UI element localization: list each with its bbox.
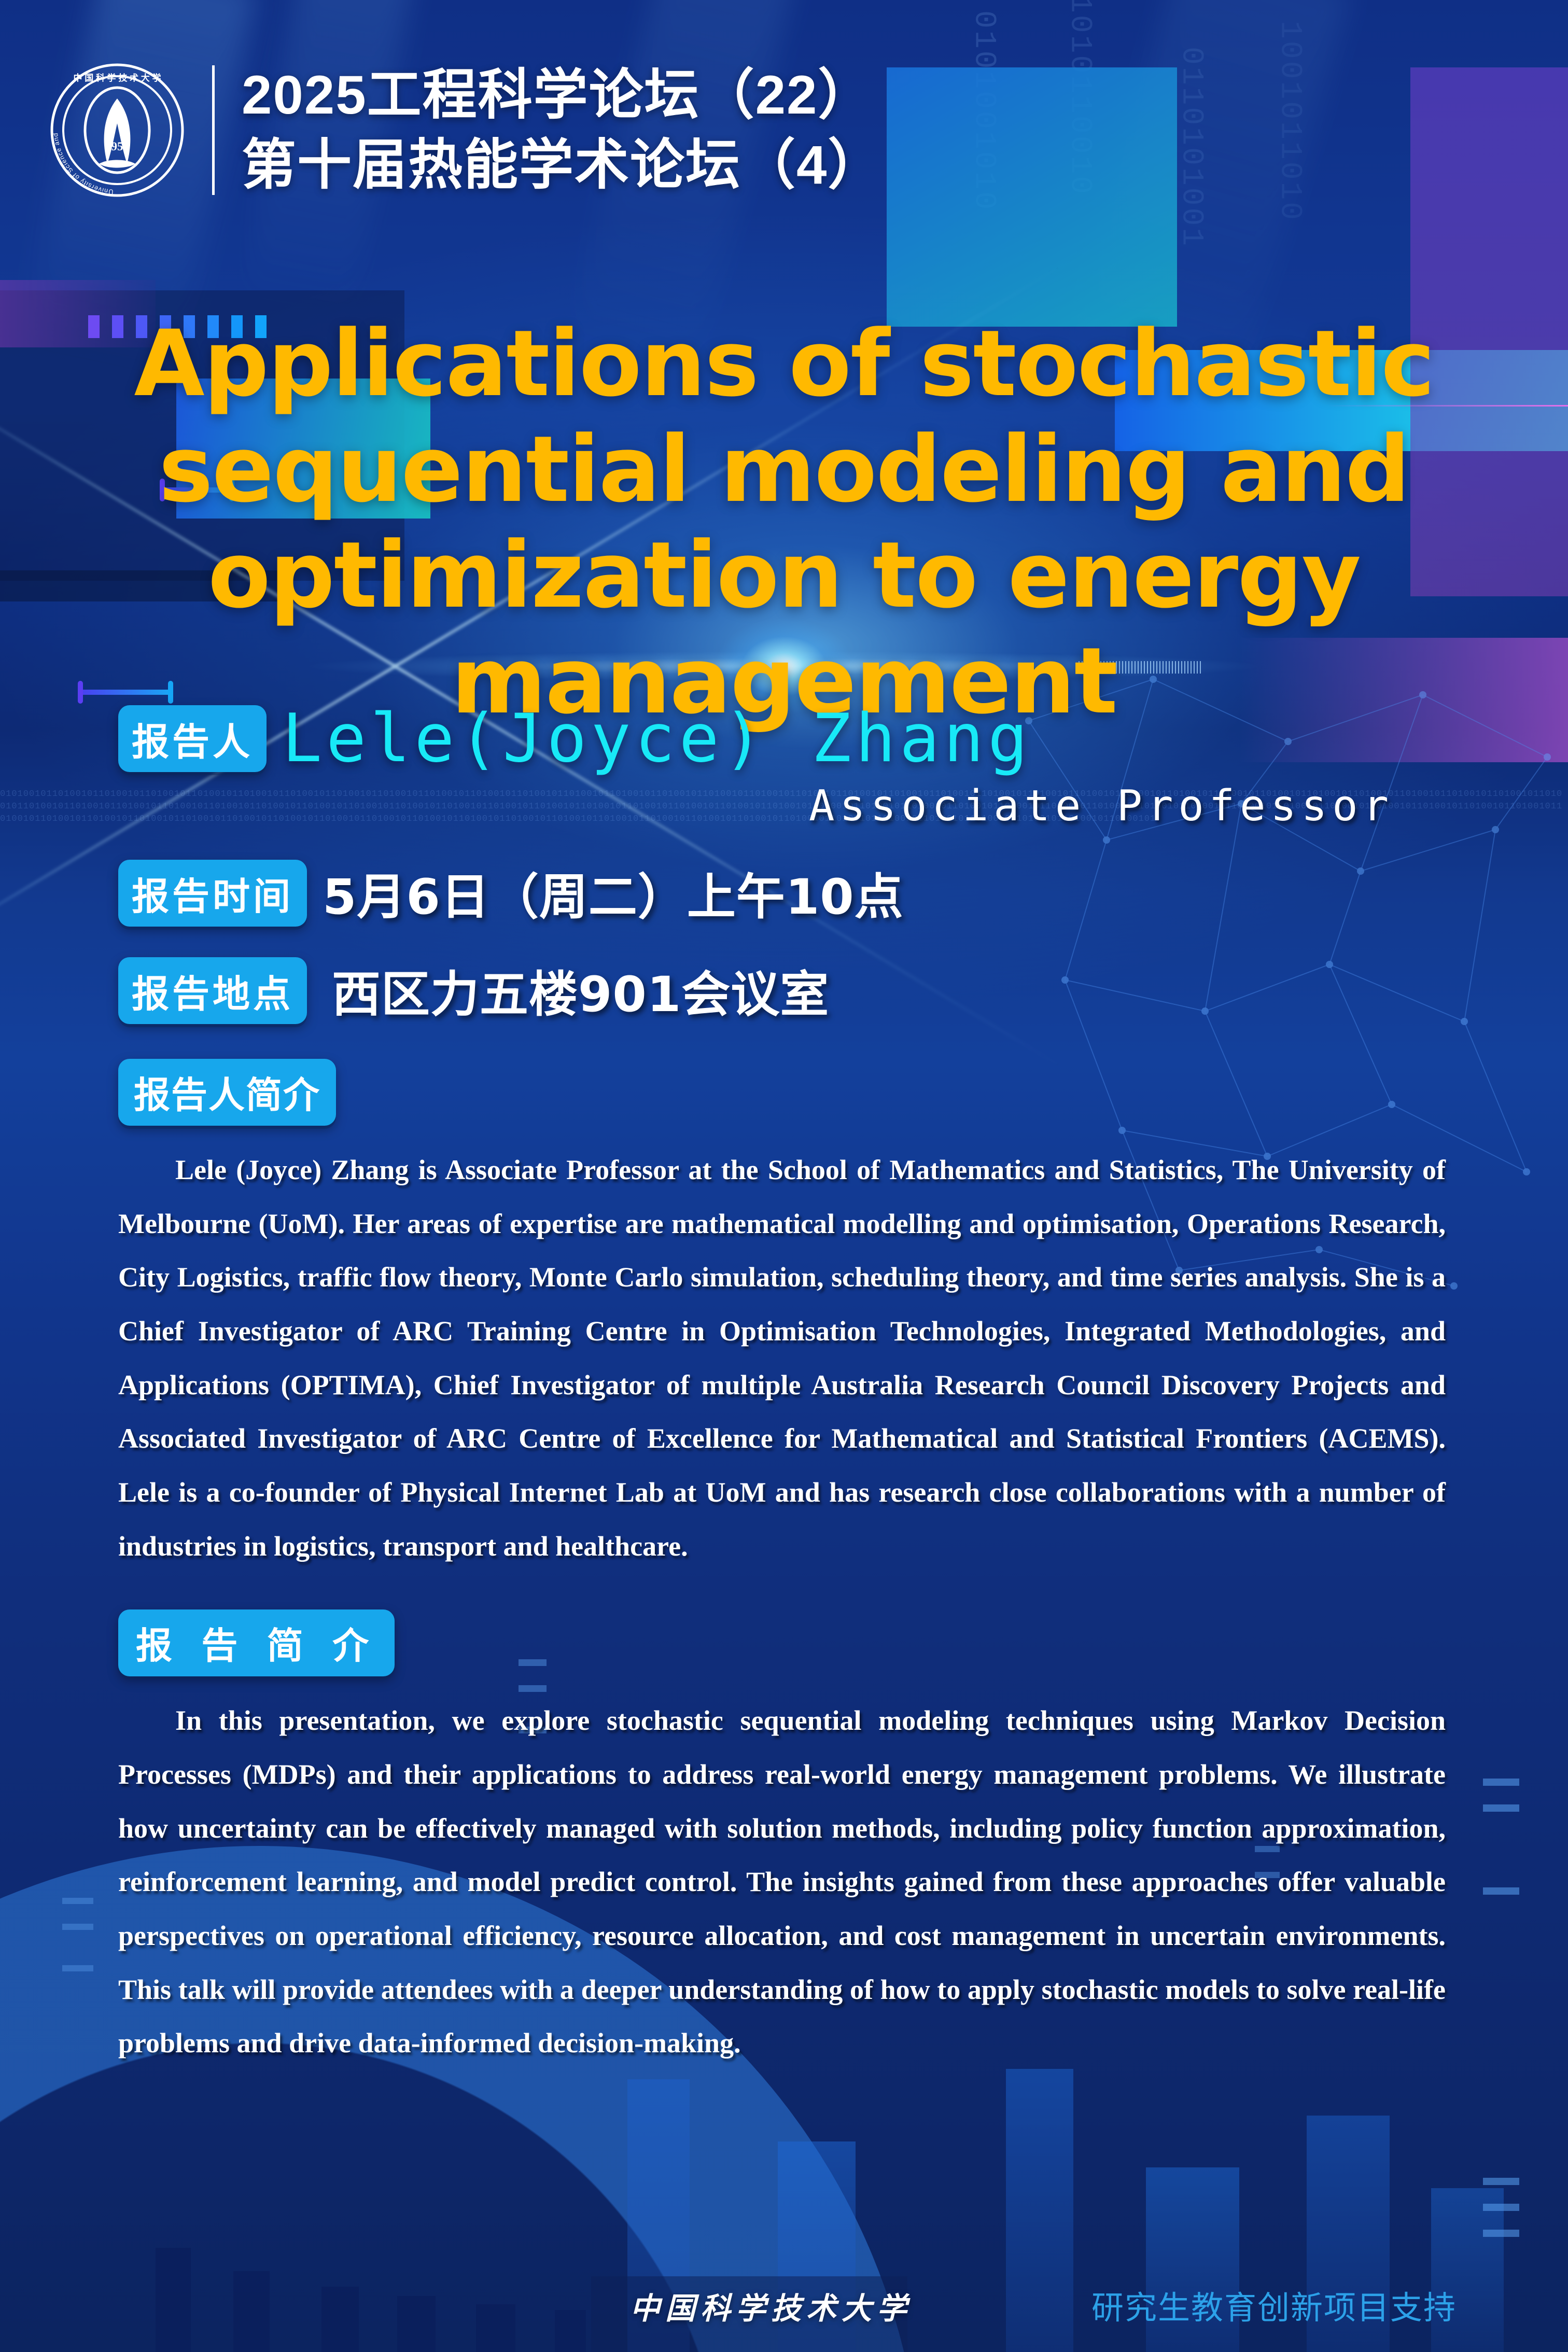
data-block (1483, 2178, 1519, 2185)
abstract-heading-row: 报 告 简 介 (118, 1609, 1518, 1676)
svg-text:中 国 科 学 技 术 大 学: 中 国 科 学 技 术 大 学 (73, 73, 161, 83)
speaker-name: Lele(Joyce) Zhang (282, 706, 1032, 772)
decor-rect-blue-tall (887, 67, 1177, 327)
skyline-bar (476, 2304, 515, 2352)
header-title-block: 2025工程科学论坛（22） 第十届热能学术论坛（4） (242, 67, 883, 193)
poster-root: 0101001010 1010110010 0110101001 1001011… (0, 0, 1568, 2352)
speaker-label-badge: 报告人 (118, 705, 267, 772)
skyline-bar (156, 2248, 191, 2352)
place-label-badge: 报告地点 (118, 957, 307, 1024)
skyline-bar (555, 2310, 586, 2352)
abstract-heading-badge: 报 告 简 介 (118, 1609, 395, 1676)
time-label-badge: 报告时间 (118, 860, 307, 927)
bio-heading-badge: 报告人简介 (118, 1059, 336, 1126)
footer-university-name: 中国科学技术大学 (630, 2284, 912, 2328)
skyline-bar (397, 2296, 436, 2352)
binary-decoration: 1010110010 (1066, 0, 1093, 327)
poster-body: 报告人 Lele(Joyce) Zhang Associate Professo… (118, 705, 1518, 2070)
skyline-bar (233, 2271, 270, 2352)
poster-header: 1958 中 国 科 学 技 术 大 学 University of Scien… (49, 62, 883, 198)
speaker-role: Associate Professor (118, 781, 1518, 831)
data-block (62, 1898, 93, 1904)
place-row: 报告地点 西区力五楼901会议室 (118, 955, 1518, 1026)
svg-text:1958: 1958 (105, 140, 129, 153)
header-divider (212, 65, 215, 195)
time-row: 报告时间 5月6日（周二）上午10点 (118, 858, 1518, 928)
data-block (1483, 2204, 1519, 2211)
abstract-paragraph: In this presentation, we explore stochas… (118, 1694, 1446, 2070)
page-title: Applications of stochastic sequential mo… (0, 311, 1568, 735)
binary-decoration: 0110101001 (1177, 47, 1205, 316)
place-value: 西区力五楼901会议室 (332, 955, 829, 1026)
skyline-tower (1006, 2069, 1073, 2352)
binary-decoration: 1001011010 (1276, 21, 1303, 332)
ustc-seal-icon: 1958 中 国 科 学 技 术 大 学 University of Scien… (49, 62, 185, 198)
skyline-bar (321, 2287, 359, 2352)
speaker-row: 报告人 Lele(Joyce) Zhang (118, 705, 1518, 772)
time-value: 5月6日（周二）上午10点 (323, 858, 904, 928)
bio-heading-row: 报告人简介 (118, 1059, 1518, 1126)
forum-title-line-1: 2025工程科学论坛（22） (242, 67, 883, 123)
forum-title-line-2: 第十届热能学术论坛（4） (242, 137, 883, 193)
footer-support-note: 研究生教育创新项目支持 (1091, 2281, 1457, 2328)
data-block (62, 1924, 93, 1930)
bio-paragraph: Lele (Joyce) Zhang is Associate Professo… (118, 1143, 1446, 1573)
binary-decoration: 0101001010 (970, 10, 997, 301)
data-block (62, 1965, 93, 1971)
data-block (1483, 2230, 1519, 2237)
